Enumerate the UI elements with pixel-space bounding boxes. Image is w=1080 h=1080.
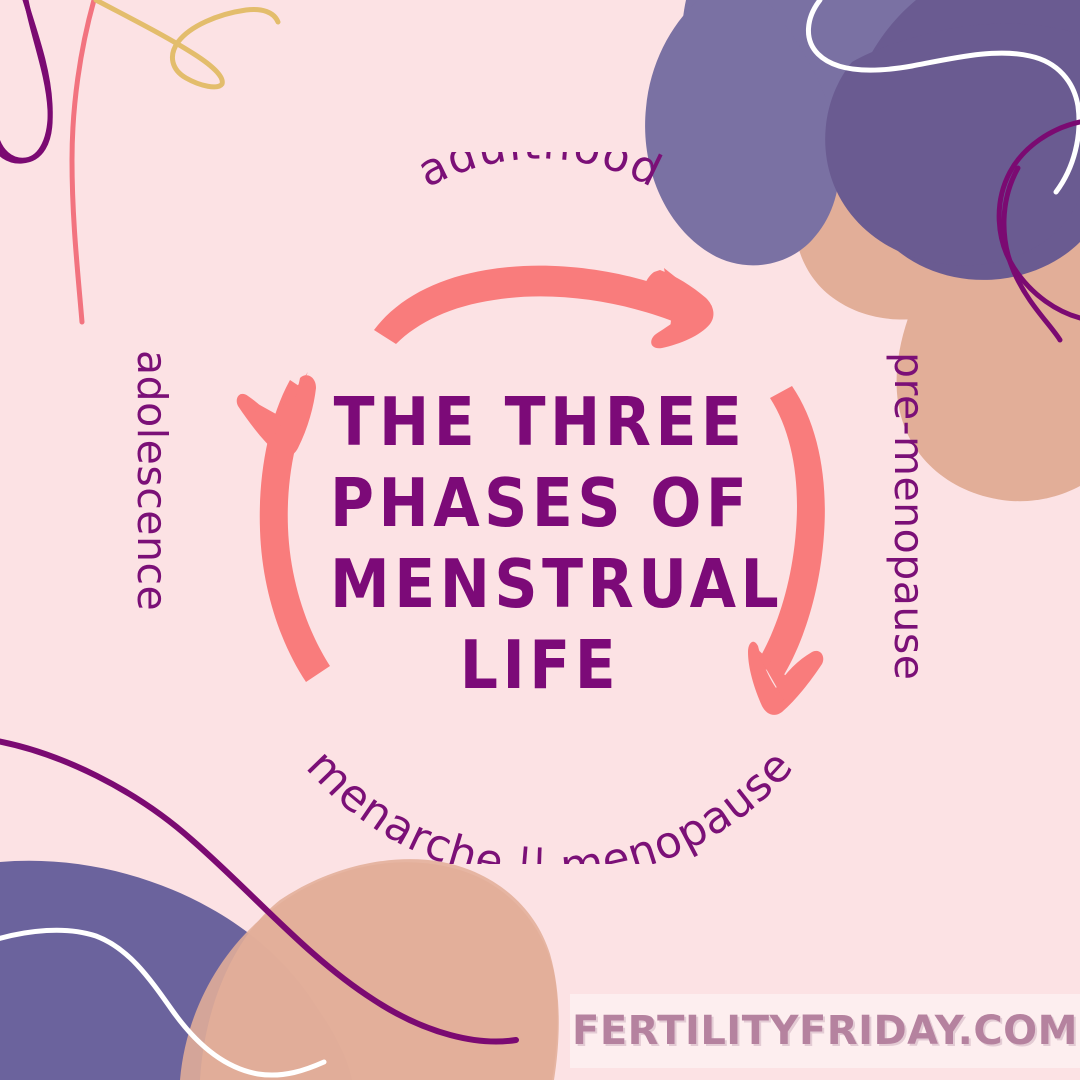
label-adolescence: adolescence <box>128 350 176 611</box>
top-arrow-head-fill <box>664 268 712 346</box>
blob-top-right-salmon <box>794 0 1080 320</box>
line-top-right-purple <box>999 122 1080 318</box>
line-top-right-white <box>808 0 1079 192</box>
line-bottom-left-white <box>0 930 324 1075</box>
line-top-left-purple <box>0 0 50 160</box>
label-adulthood-wrapper: adulthood <box>330 152 750 262</box>
title-line-3: MENSTRUAL <box>330 540 750 631</box>
left-arrow-head-fill <box>240 372 308 434</box>
line-top-left-coral <box>72 0 94 322</box>
top-arrow <box>374 266 713 349</box>
left-arrow-head <box>237 375 316 457</box>
line-top-left-purple-curve <box>0 0 50 161</box>
label-menarche-menopause: menarche || menopause <box>297 740 803 864</box>
infographic-canvas: adulthood menarche || menopause adolesce… <box>0 0 1080 1080</box>
page-title: THE THREE PHASES OF MENSTRUAL LIFE <box>330 378 750 702</box>
top-arrow-head <box>645 270 713 348</box>
blob-top-right-deep-purple <box>847 0 1080 280</box>
left-arrow-shaft <box>260 380 330 682</box>
right-arrow-shaft <box>756 386 825 678</box>
blob-bottom-left-periwinkle <box>0 877 352 1080</box>
svg-text:menarche || menopause: menarche || menopause <box>297 740 803 864</box>
watermark-band: FERTILITYFRIDAY.COM <box>570 994 1080 1068</box>
svg-text:adulthood: adulthood <box>410 152 671 198</box>
title-line-1: THE THREE <box>330 378 750 469</box>
left-arrow <box>237 372 330 682</box>
line-right-edge-purple <box>1004 168 1060 340</box>
blob-bottom-left-periwinkle-upper <box>0 861 334 1080</box>
title-line-4: LIFE <box>330 621 750 712</box>
blob-top-right-deep-purple-wide <box>825 24 1080 266</box>
right-arrow-head-fill <box>752 644 820 700</box>
blob-bottom-left-salmon <box>180 862 558 1080</box>
line-top-left-gold <box>96 0 278 87</box>
title-line-2: PHASES OF <box>330 459 750 550</box>
label-adulthood: adulthood <box>410 152 671 198</box>
label-menarche-menopause-wrapper: menarche || menopause <box>270 724 830 864</box>
blob-bottom-right-of-left-salmon <box>200 859 559 1080</box>
label-pre-menopause: pre-menopause <box>885 352 933 680</box>
top-arrow-shaft <box>374 266 688 344</box>
right-arrow-head <box>748 642 823 715</box>
watermark-text: FERTILITYFRIDAY.COM <box>570 994 1080 1068</box>
